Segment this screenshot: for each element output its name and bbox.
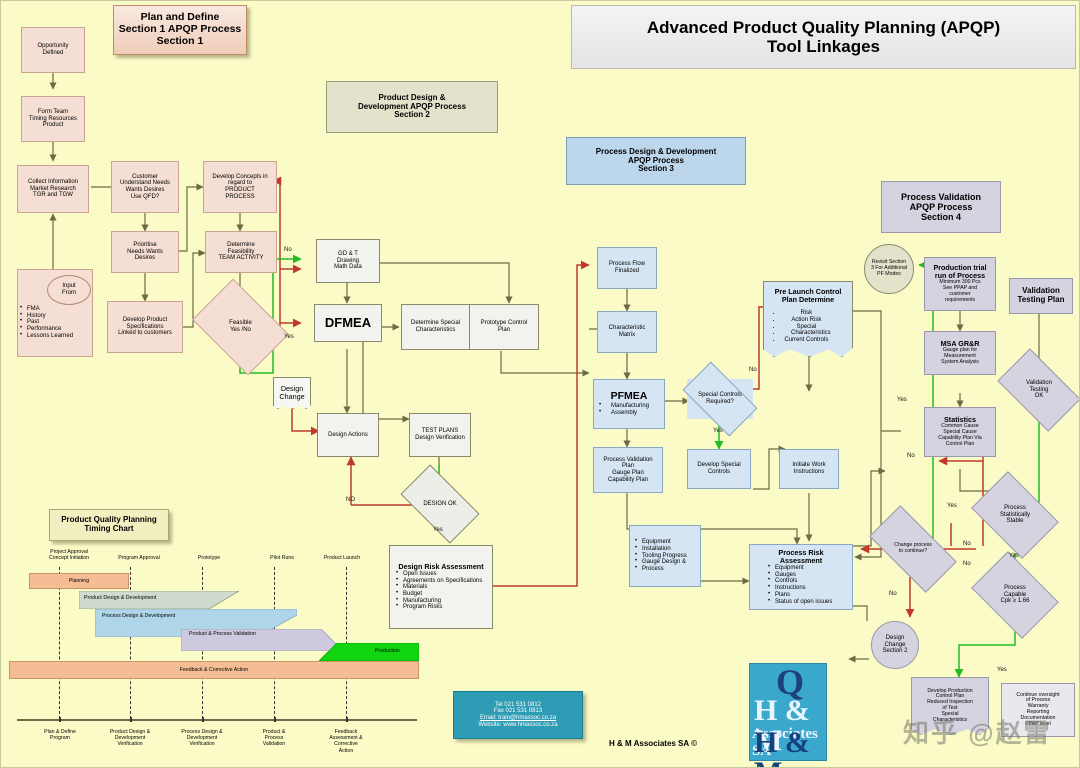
edge-label-yes-feasible: Yes bbox=[284, 334, 294, 340]
box-dfmea: DFMEA bbox=[314, 304, 382, 342]
axis-label: Process Design & Development Verificatio… bbox=[167, 729, 237, 748]
box-statistics: Statistics Common Cause Special Cause Ca… bbox=[924, 407, 996, 457]
edge-label-yes-special-controls: Yes bbox=[713, 428, 723, 434]
equipment-item: Installation bbox=[633, 546, 697, 553]
box-customer-understand-needs: Customer Understand Needs Wants Desires … bbox=[111, 161, 179, 213]
box-develop-special-controls: Develop Special Controls bbox=[687, 449, 751, 489]
box-test-plans: TEST PLANS Design Verification bbox=[409, 413, 471, 457]
box-form-team: Form Team Timing Resources Product bbox=[21, 96, 85, 142]
box-msa-grr: MSA GR&R Gauge plan for Measurement Syst… bbox=[924, 331, 996, 375]
timing-band-process-design: Process Design & Development bbox=[102, 613, 175, 619]
doc-develop-production-control-plan: Develop Production Control Plan Reduced … bbox=[911, 677, 989, 735]
box-collect-information: Collect Information Market Research TGR … bbox=[17, 165, 89, 213]
timing-chart-title: Product Quality Planning Timing Chart bbox=[49, 509, 169, 541]
diamond-validation-testing-ok: Validation Testing OK bbox=[1003, 367, 1075, 413]
timing-band-product-process-validation: Product & Process Validation bbox=[189, 631, 256, 637]
box-process-validation-plan: Process Validation Plan Gauge Plan Capab… bbox=[593, 447, 663, 493]
edge-label-no-mid: No bbox=[963, 561, 971, 567]
pfmea-item: Assembly bbox=[597, 410, 661, 417]
copyright-text: H & M Associates SA © bbox=[609, 739, 697, 748]
box-prototype-control-plan: Prototype Control Plan bbox=[469, 304, 539, 350]
logo-hm-secondary: H & M bbox=[754, 728, 826, 768]
edge-label-yes-left: Yes bbox=[897, 397, 907, 403]
box-validation-testing-plan: Validation Testing Plan bbox=[1009, 278, 1073, 314]
edge-label-no-left: No bbox=[907, 453, 915, 459]
process-risk-item: Gauges bbox=[766, 572, 860, 579]
page-title: Advanced Product Quality Planning (APQP)… bbox=[571, 5, 1076, 69]
timing-band-production: Production bbox=[375, 648, 400, 654]
diamond-process-statistically-stable: Process Statistically Stable bbox=[979, 489, 1051, 541]
diamond-change-process-to-continue: Change process to continue? bbox=[873, 527, 953, 571]
edge-label-no-feasible: No bbox=[284, 247, 292, 253]
edge-label-no-stable: No bbox=[963, 541, 971, 547]
box-opportunity-defined: Opportunity Defined bbox=[21, 27, 85, 73]
process-risk-item: Status of open issues bbox=[766, 599, 860, 606]
box-pfmea: PFMEA Manufacturing Assembly bbox=[593, 379, 665, 429]
edge-label-yes-stable: Yes bbox=[1009, 553, 1019, 559]
diamond-design-ok: DESIGN OK bbox=[405, 483, 475, 525]
section-4-header: Process Validation APQP Process Section … bbox=[881, 181, 1001, 233]
input-item: Past bbox=[18, 319, 92, 326]
axis-label: Product Design & Development Verificatio… bbox=[95, 729, 165, 748]
pre-launch-item: Characteristics bbox=[782, 330, 831, 337]
pre-launch-item: Special bbox=[782, 324, 831, 331]
edge-label-yes-capable: Yes bbox=[997, 667, 1007, 673]
website-link[interactable]: Website: www.hmassoc.co.za bbox=[478, 722, 557, 729]
edge-label-yes-mid: Yes bbox=[947, 503, 957, 509]
input-item: Lessons Learned bbox=[18, 333, 92, 340]
box-determine-special-characteristics: Determine Special Characteristics bbox=[401, 304, 469, 350]
box-equipment-installation: Equipment Installation Tooling Progress … bbox=[629, 525, 701, 587]
box-gdt-drawing: GD & T Drawing Math Data bbox=[316, 239, 380, 283]
doc-design-change: Design Change bbox=[273, 377, 311, 409]
box-continue-oversight: Continue oversight of Process Warranty R… bbox=[1001, 683, 1075, 737]
box-input-from: Input From FMA History Past Performance … bbox=[17, 269, 93, 357]
edge-label-yes-design-ok: Yes bbox=[433, 527, 443, 533]
axis-label: Product & Process Validation bbox=[239, 729, 309, 748]
box-characteristic-matrix: Characteristic Matrix bbox=[597, 311, 657, 353]
contact-info-box: Tel 021 531 0812 Fax 021 531 0813 Email:… bbox=[453, 691, 583, 739]
pre-launch-item: Risk bbox=[782, 310, 831, 317]
box-process-risk-assessment: Process Risk Assessment Equipment Gauges… bbox=[749, 544, 853, 610]
equipment-item: Gauge Design & bbox=[633, 559, 697, 566]
pre-launch-item: Current Controls bbox=[782, 337, 831, 344]
equipment-item: Equipment bbox=[633, 539, 697, 546]
doc-pre-launch-control-plan: Pre Launch Control Plan Determine Risk A… bbox=[763, 281, 853, 357]
circle-revisit-section-3: Revisit Section 3 For Additional PF Mode… bbox=[864, 244, 914, 294]
edge-label-no-design-ok: NO bbox=[346, 497, 355, 503]
box-process-flow-finalized: Process Flow Finalized bbox=[597, 247, 657, 289]
section-1-header: Plan and Define Section 1 APQP Process S… bbox=[113, 5, 247, 55]
input-item: FMA bbox=[18, 306, 92, 313]
milestone-label: Product Launch bbox=[297, 555, 387, 561]
timing-band-feedback: Feedback & Corrective Action bbox=[9, 661, 419, 679]
box-develop-product-specifications: Develop Product Specifications Linked to… bbox=[107, 301, 183, 353]
timing-band-planning: Planning bbox=[29, 573, 129, 589]
edge-label-no-change-process: No bbox=[889, 591, 897, 597]
timing-chart: Project Approval Concept Initiation Prog… bbox=[9, 549, 429, 761]
section-2-header: Product Design & Development APQP Proces… bbox=[326, 81, 498, 133]
timing-band-product-design: Product Design & Development bbox=[84, 595, 156, 601]
apqp-diagram-canvas: Plan and Define Section 1 APQP Process S… bbox=[0, 0, 1080, 768]
box-determine-feasibility: Determine Feasibility TEAM ACTIVITY bbox=[205, 231, 277, 273]
email-link[interactable]: Email: train@hmassoc.co.za bbox=[480, 715, 556, 722]
process-risk-item: Instructions bbox=[766, 585, 860, 592]
input-item: Performance bbox=[18, 326, 92, 333]
axis-label: Feedback Assessment & Corrective Action bbox=[311, 729, 381, 754]
hm-logo: Q H & M Associates SA H & M bbox=[749, 663, 827, 761]
box-design-actions: Design Actions bbox=[317, 413, 379, 457]
process-risk-item: Equipment bbox=[766, 565, 860, 572]
box-prioritise-needs: Prioritise Needs Wants Desires bbox=[111, 231, 179, 273]
box-production-trial-run: Production trial run of Process Minimum … bbox=[924, 257, 996, 311]
equipment-item: Tooling Progress bbox=[633, 553, 697, 560]
diamond-feasible: Feasible Yes /No bbox=[201, 298, 280, 356]
pfmea-item: Manufacturing bbox=[597, 403, 661, 410]
edge-label-no-special-controls: No bbox=[749, 367, 757, 373]
process-risk-item: Plans bbox=[766, 592, 860, 599]
section-3-header: Process Design & Development APQP Proces… bbox=[566, 137, 746, 185]
process-risk-item: Controls bbox=[766, 578, 860, 585]
circle-design-change-section-2: Design Change Section 2 bbox=[871, 621, 919, 669]
equipment-item: Process bbox=[633, 566, 697, 573]
diamond-special-controls-required: Special Controls Required? bbox=[687, 379, 753, 419]
box-develop-concepts: Develop Concepts in regard to PRODUCT PR… bbox=[203, 161, 277, 213]
axis-label: Plan & Define Program bbox=[25, 729, 95, 741]
box-initiate-work-instructions: Initiate Work Instructions bbox=[779, 449, 839, 489]
pre-launch-item: Action Risk bbox=[782, 317, 831, 324]
input-item: History bbox=[18, 313, 92, 320]
diamond-process-capable: Process Capable Cpk ≥ 1.66 bbox=[979, 569, 1051, 621]
